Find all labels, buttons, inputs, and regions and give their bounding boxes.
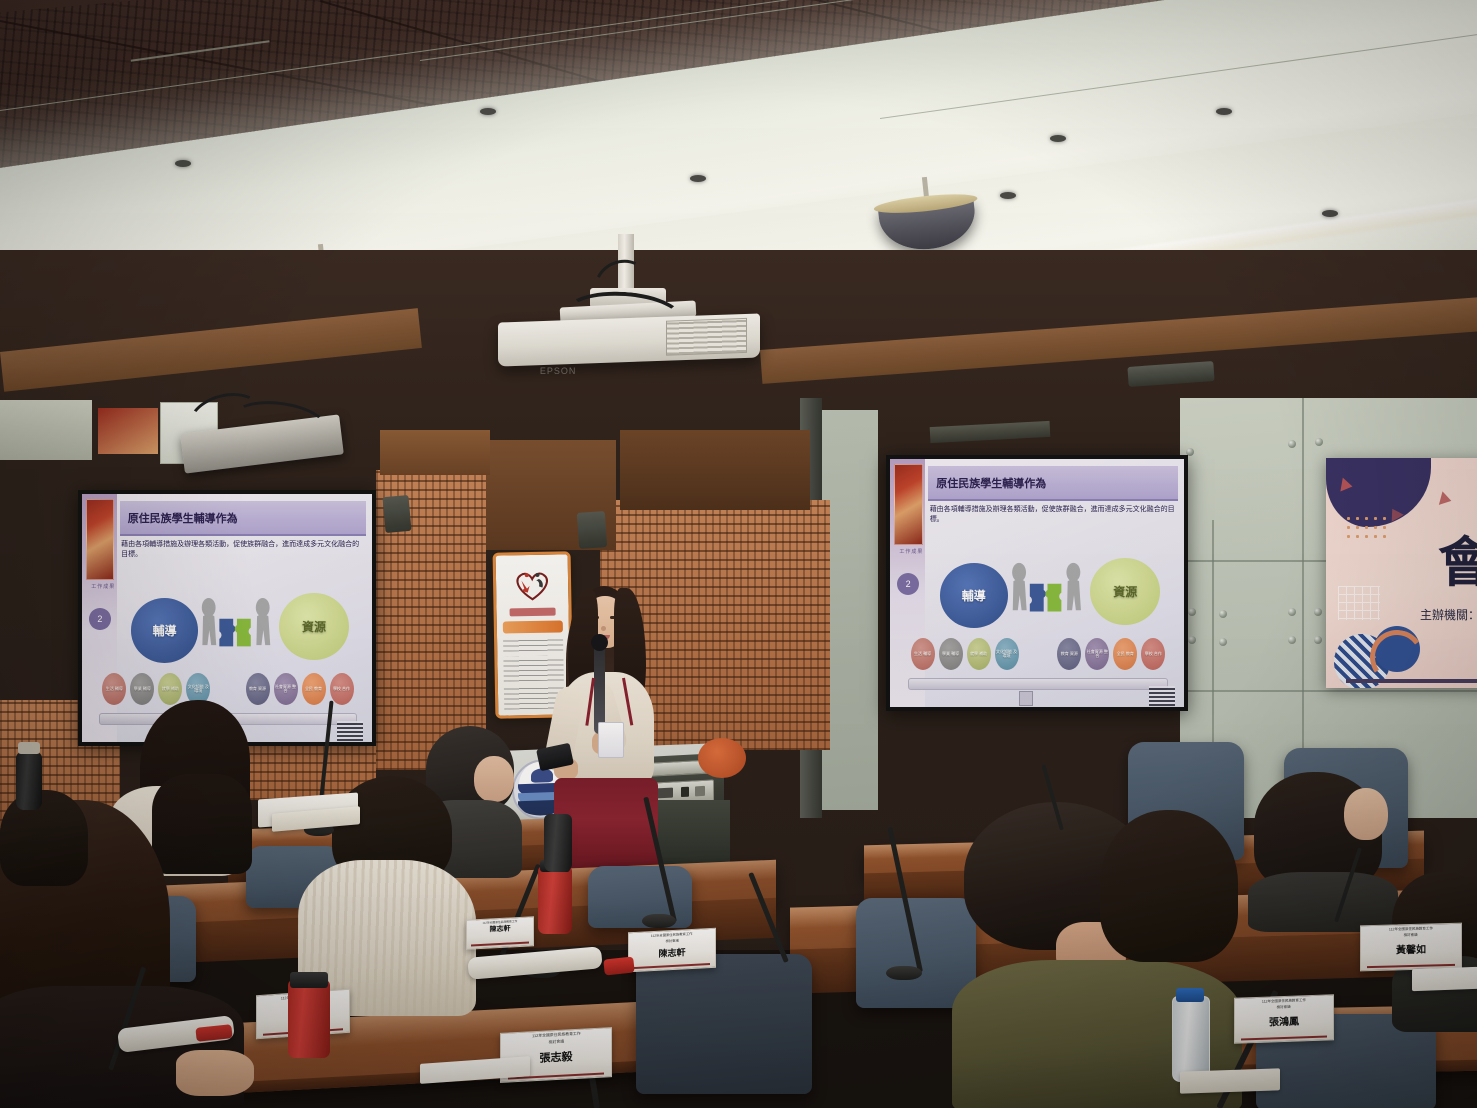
grid-pattern bbox=[1338, 586, 1380, 620]
slide-mini-oval: 社會資源 整合 bbox=[274, 673, 298, 705]
slide-oval-guidance: 輔導 bbox=[940, 563, 1008, 627]
projection-screen-right: 工作成果 2 原住民族學生輔導作為 藉由各項輔導措施及辦理各類活動，促使族群融合… bbox=[886, 455, 1188, 711]
document-stack bbox=[1180, 1068, 1280, 1093]
slide-people-puzzle-graphic bbox=[198, 596, 273, 665]
microphone-base bbox=[886, 966, 922, 980]
nameplate: 112年全國原住民族教育工作 檢討會議 陳志軒 bbox=[628, 928, 716, 973]
slide-photo-thumb bbox=[86, 499, 114, 580]
microphone-head bbox=[591, 634, 608, 651]
slide-body: 藉由各項輔導措施及辦理各類活動，促使族群融合，進而達成多元文化融合的目標。 bbox=[121, 539, 365, 561]
ceiling-downlight bbox=[480, 108, 496, 115]
epson-projector: EPSON bbox=[498, 318, 760, 410]
nameplate: 112年全國原住民族教育工作 檢討會議 張鴻鳳 bbox=[1234, 994, 1334, 1043]
nameplate: 112年全國原住民族教育工作 陳志軒 bbox=[466, 916, 534, 950]
water-bottle bbox=[1172, 996, 1210, 1082]
slide-oval-guidance: 輔導 bbox=[131, 598, 198, 662]
slide-mini-oval: 社會資源 整合 bbox=[1085, 638, 1109, 670]
triangle-icon bbox=[1439, 491, 1453, 507]
red-thermos bbox=[538, 866, 572, 934]
slide-qr-code bbox=[337, 721, 363, 741]
people-puzzle-svg bbox=[198, 596, 273, 665]
attendee-hair bbox=[0, 790, 88, 886]
attendee-back-right bbox=[1248, 772, 1398, 922]
ceiling-downlight bbox=[175, 160, 191, 167]
slide-right: 工作成果 2 原住民族學生輔導作為 藉由各項輔導措施及辦理各類活動，促使族群融合… bbox=[890, 459, 1184, 707]
attendee-body bbox=[1248, 872, 1398, 932]
attendee-face bbox=[1344, 788, 1388, 840]
black-bottle bbox=[16, 752, 42, 810]
wall-speaker bbox=[577, 511, 607, 549]
nameplate-org2: 檢討會議 bbox=[665, 939, 678, 943]
slide-body: 藉由各項輔導措施及辦理各類活動，促使族群融合，進而達成多元文化融合的目標。 bbox=[930, 504, 1177, 526]
attendee-hair bbox=[1100, 810, 1238, 962]
slide-mini-oval: 就學 補助 bbox=[967, 638, 991, 670]
nameplate-org2: 檢討會議 bbox=[1277, 1005, 1291, 1009]
red-marker bbox=[603, 956, 635, 975]
slide-mini-oval: 學業 輔導 bbox=[939, 638, 963, 670]
conference-room-photo: 工作成果 2 原住民族學生輔導作為 藉由各項輔導措施及辦理各類活動，促使族群融合… bbox=[0, 0, 1477, 1108]
slide-title-bar: 原住民族學生輔導作為 bbox=[928, 466, 1178, 500]
handheld-microphone bbox=[594, 642, 605, 734]
bottle-cap bbox=[18, 742, 40, 754]
slide-title: 原住民族學生輔導作為 bbox=[928, 475, 1046, 491]
chair-foreground bbox=[636, 954, 812, 1094]
slide-oval-resource: 資源 bbox=[1090, 558, 1161, 625]
orange-pouch bbox=[698, 738, 746, 778]
nameplate-name: 陳志軒 bbox=[658, 946, 685, 960]
slide-side-label: 工作成果 bbox=[899, 548, 923, 555]
ceiling-downlight bbox=[690, 175, 706, 182]
wall-wood-block bbox=[620, 430, 810, 510]
banner-subheading: 主辦機關： bbox=[1420, 606, 1477, 623]
nameplate-name: 黃馨如 bbox=[1396, 940, 1426, 956]
heart-hands-logo bbox=[512, 564, 553, 606]
slide-mini-oval: 學校 合作 bbox=[1141, 638, 1165, 670]
slide-mini-oval: 全民 教育 bbox=[302, 673, 326, 705]
slide-base-bar bbox=[908, 678, 1169, 690]
attendee-left-edge bbox=[0, 790, 96, 920]
slide-number-bubble: 2 bbox=[89, 608, 111, 630]
ceiling-downlight bbox=[1322, 210, 1338, 217]
slide-mini-oval: 教育 資源 bbox=[1057, 638, 1081, 670]
banner-bottom-bar bbox=[1346, 679, 1477, 683]
nameplate: 112年全國原住民族教育工作 檢討會議 黃馨如 bbox=[1360, 923, 1462, 972]
projector-vent bbox=[666, 317, 747, 355]
attendee-behind-right bbox=[1100, 810, 1250, 980]
dot-pattern bbox=[1344, 514, 1390, 542]
slide-foot-chip bbox=[1019, 691, 1033, 705]
ceiling-downlight bbox=[1216, 108, 1232, 115]
ceiling-downlight bbox=[1000, 192, 1016, 199]
projector-body bbox=[498, 313, 760, 366]
heart-hands-svg bbox=[512, 564, 553, 606]
attendee-face bbox=[474, 756, 514, 802]
thermos-cap bbox=[290, 972, 328, 988]
event-banner: 會 主辦機關： bbox=[1326, 458, 1477, 688]
nameplate-org2: 檢討會議 bbox=[1404, 933, 1418, 937]
nameplate-org: 112年全國原住民族教育工作 bbox=[1262, 998, 1306, 1004]
wall-speaker bbox=[382, 495, 411, 533]
slide-title: 原住民族學生輔導作為 bbox=[120, 510, 238, 526]
nameplate-name: 張鴻鳳 bbox=[1269, 1012, 1299, 1028]
nameplate-org2: 檢討會議 bbox=[548, 1040, 563, 1045]
presenter-nose bbox=[601, 626, 606, 631]
slide-oval-resource: 資源 bbox=[279, 593, 349, 660]
people-puzzle-svg bbox=[1008, 561, 1084, 630]
red-thermos bbox=[288, 980, 330, 1058]
banner-heading: 會 bbox=[1438, 518, 1477, 597]
nameplate-name: 陳志軒 bbox=[490, 924, 511, 935]
attendee-hands bbox=[176, 1050, 254, 1096]
slide-mini-oval: 學校 合作 bbox=[330, 673, 354, 705]
slide-qr-code bbox=[1149, 686, 1175, 706]
bottle-cap bbox=[1176, 988, 1204, 1002]
slide-mini-oval: 生活 輔導 bbox=[911, 638, 935, 670]
microphone-base bbox=[642, 914, 676, 928]
wall-poster-small bbox=[98, 408, 158, 454]
black-bottle bbox=[544, 814, 572, 872]
slide-photo-thumb bbox=[894, 464, 922, 545]
nameplate-org: 112年全國原住民族教育工作 bbox=[651, 932, 693, 938]
slide-side-label: 工作成果 bbox=[91, 583, 115, 590]
nameplate-org: 112年全國原住民族教育工作 bbox=[1389, 927, 1433, 932]
slide-people-puzzle-graphic bbox=[1008, 561, 1084, 630]
nameplate-name: 張志毅 bbox=[540, 1048, 573, 1066]
slide-title-bar: 原住民族學生輔導作為 bbox=[120, 501, 367, 535]
slide-mini-oval: 文化知能 及環境 bbox=[995, 638, 1019, 670]
projector-brand-label: EPSON bbox=[540, 366, 577, 376]
ceiling-downlight bbox=[1050, 135, 1066, 142]
nameplate-org: 112年全國原住民族教育工作 bbox=[532, 1032, 581, 1039]
document-stack bbox=[1412, 967, 1477, 991]
wall-wood-block bbox=[380, 430, 490, 475]
slide-mini-oval: 全民 教育 bbox=[1113, 638, 1137, 670]
name-badge bbox=[598, 722, 624, 758]
wall-notice-board bbox=[0, 400, 92, 460]
